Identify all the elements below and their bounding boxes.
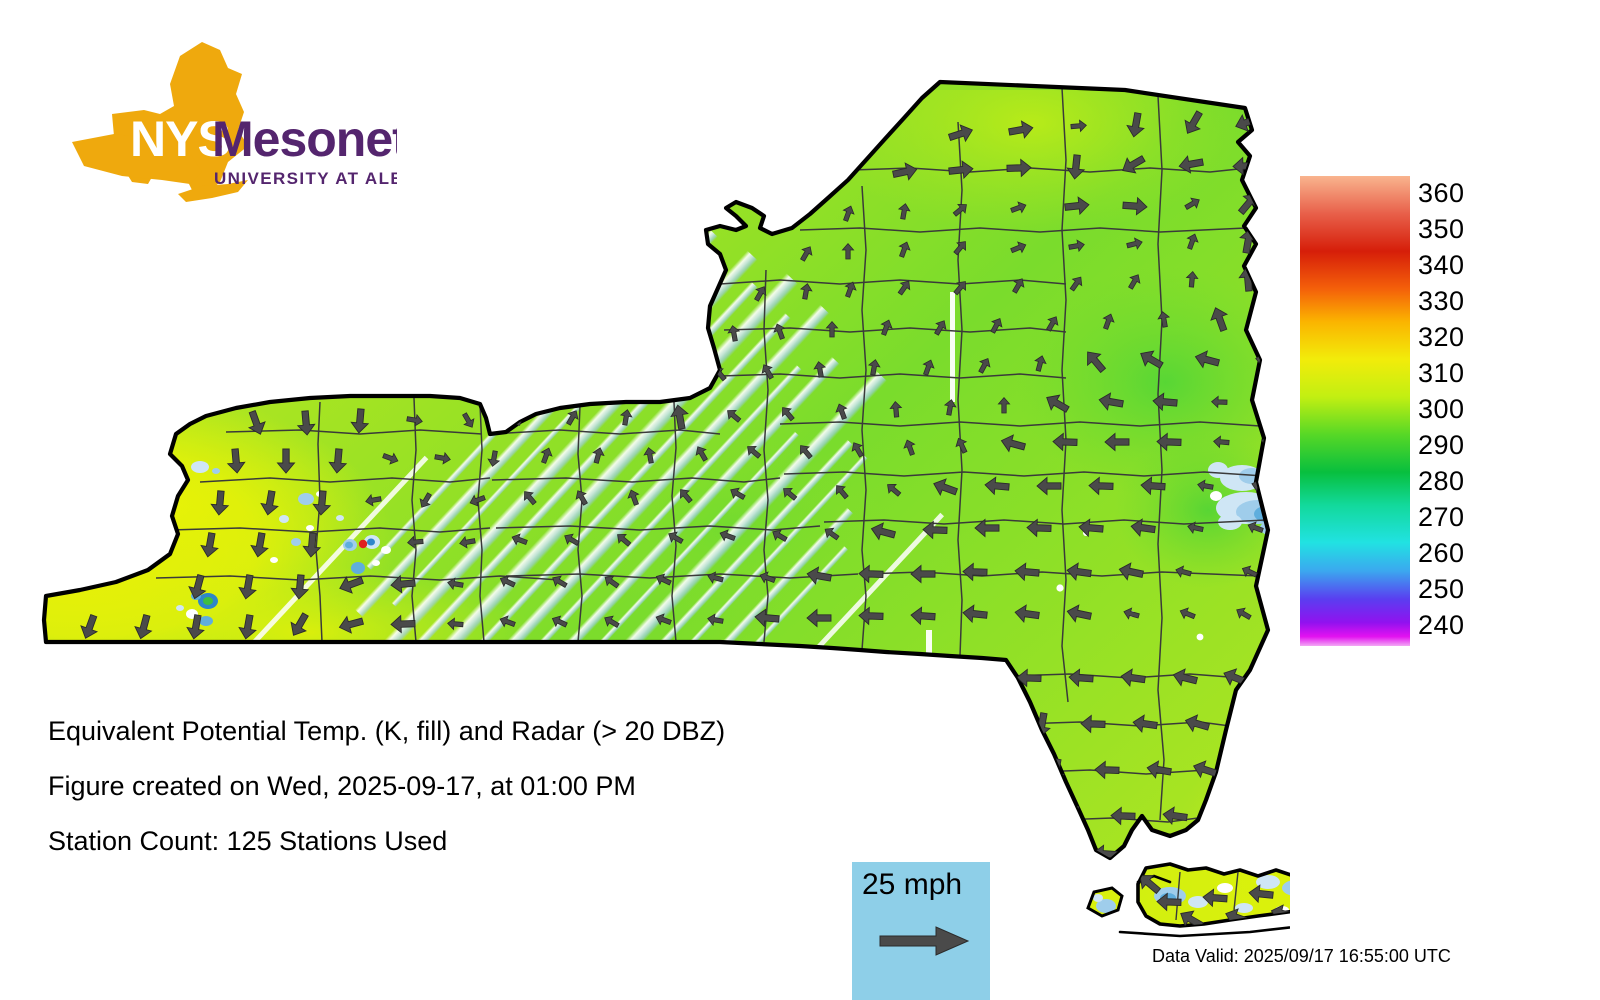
colorbar-tick: 340 (1418, 252, 1465, 279)
colorbar: 360 350 340 330 320 310 300 290 280 270 … (1300, 172, 1580, 652)
data-valid-timestamp: Data Valid: 2025/09/17 16:55:00 UTC (1152, 946, 1451, 966)
caption-title: Equivalent Potential Temp. (K, fill) and… (48, 718, 948, 745)
colorbar-tick: 350 (1418, 216, 1465, 243)
caption-created-time: Figure created on Wed, 2025-09-17, at 01… (48, 773, 948, 800)
colorbar-tick: 270 (1418, 504, 1465, 531)
colorbar-tick: 280 (1418, 468, 1465, 495)
colorbar-tick: 310 (1418, 360, 1465, 387)
wind-scale-legend: 25 mph (852, 862, 990, 1000)
colorbar-tick: 290 (1418, 432, 1465, 459)
wind-scale-label: 25 mph (862, 868, 962, 902)
colorbar-tick: 330 (1418, 288, 1465, 315)
colorbar-gradient (1300, 176, 1410, 646)
figure-caption: Equivalent Potential Temp. (K, fill) and… (48, 718, 948, 883)
colorbar-tick: 260 (1418, 540, 1465, 567)
colorbar-tick: 300 (1418, 396, 1465, 423)
colorbar-tick: 250 (1418, 576, 1465, 603)
caption-station-count: Station Count: 125 Stations Used (48, 828, 948, 855)
colorbar-tick-labels: 360 350 340 330 320 310 300 290 280 270 … (1418, 172, 1568, 650)
colorbar-tick: 320 (1418, 324, 1465, 351)
wind-scale-arrow-icon (878, 924, 972, 958)
map-staten-island (1088, 888, 1122, 916)
colorbar-tick: 240 (1418, 612, 1465, 639)
colorbar-tick: 360 (1418, 180, 1465, 207)
